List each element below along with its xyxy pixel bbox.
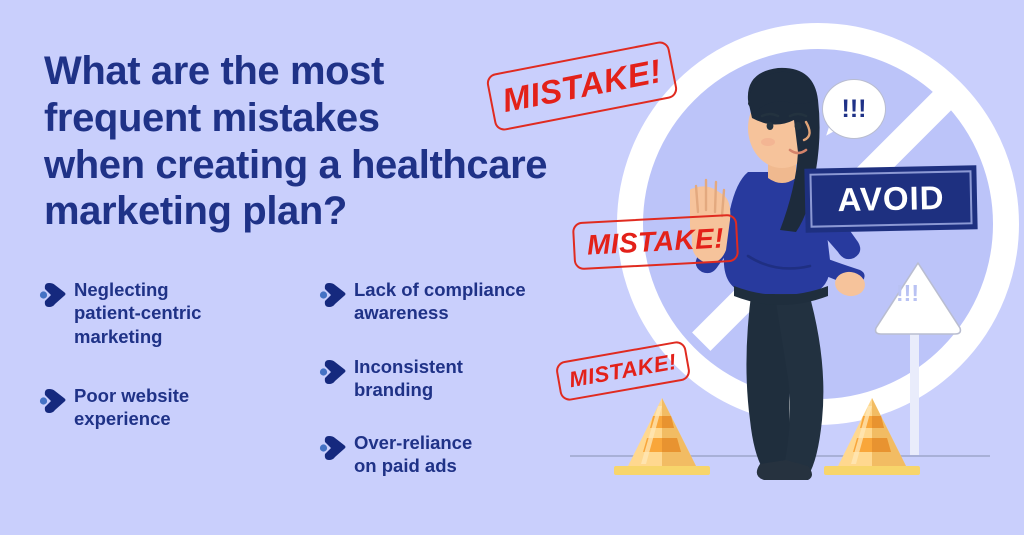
mistake-stamp: MISTAKE! [572,214,739,271]
infographic-canvas: !!! [0,0,1024,535]
mistake-stamp: MISTAKE! [485,40,679,132]
mistake-stamp: MISTAKE! [555,340,692,402]
stamp-layer: MISTAKE! MISTAKE! MISTAKE! [0,0,1024,535]
